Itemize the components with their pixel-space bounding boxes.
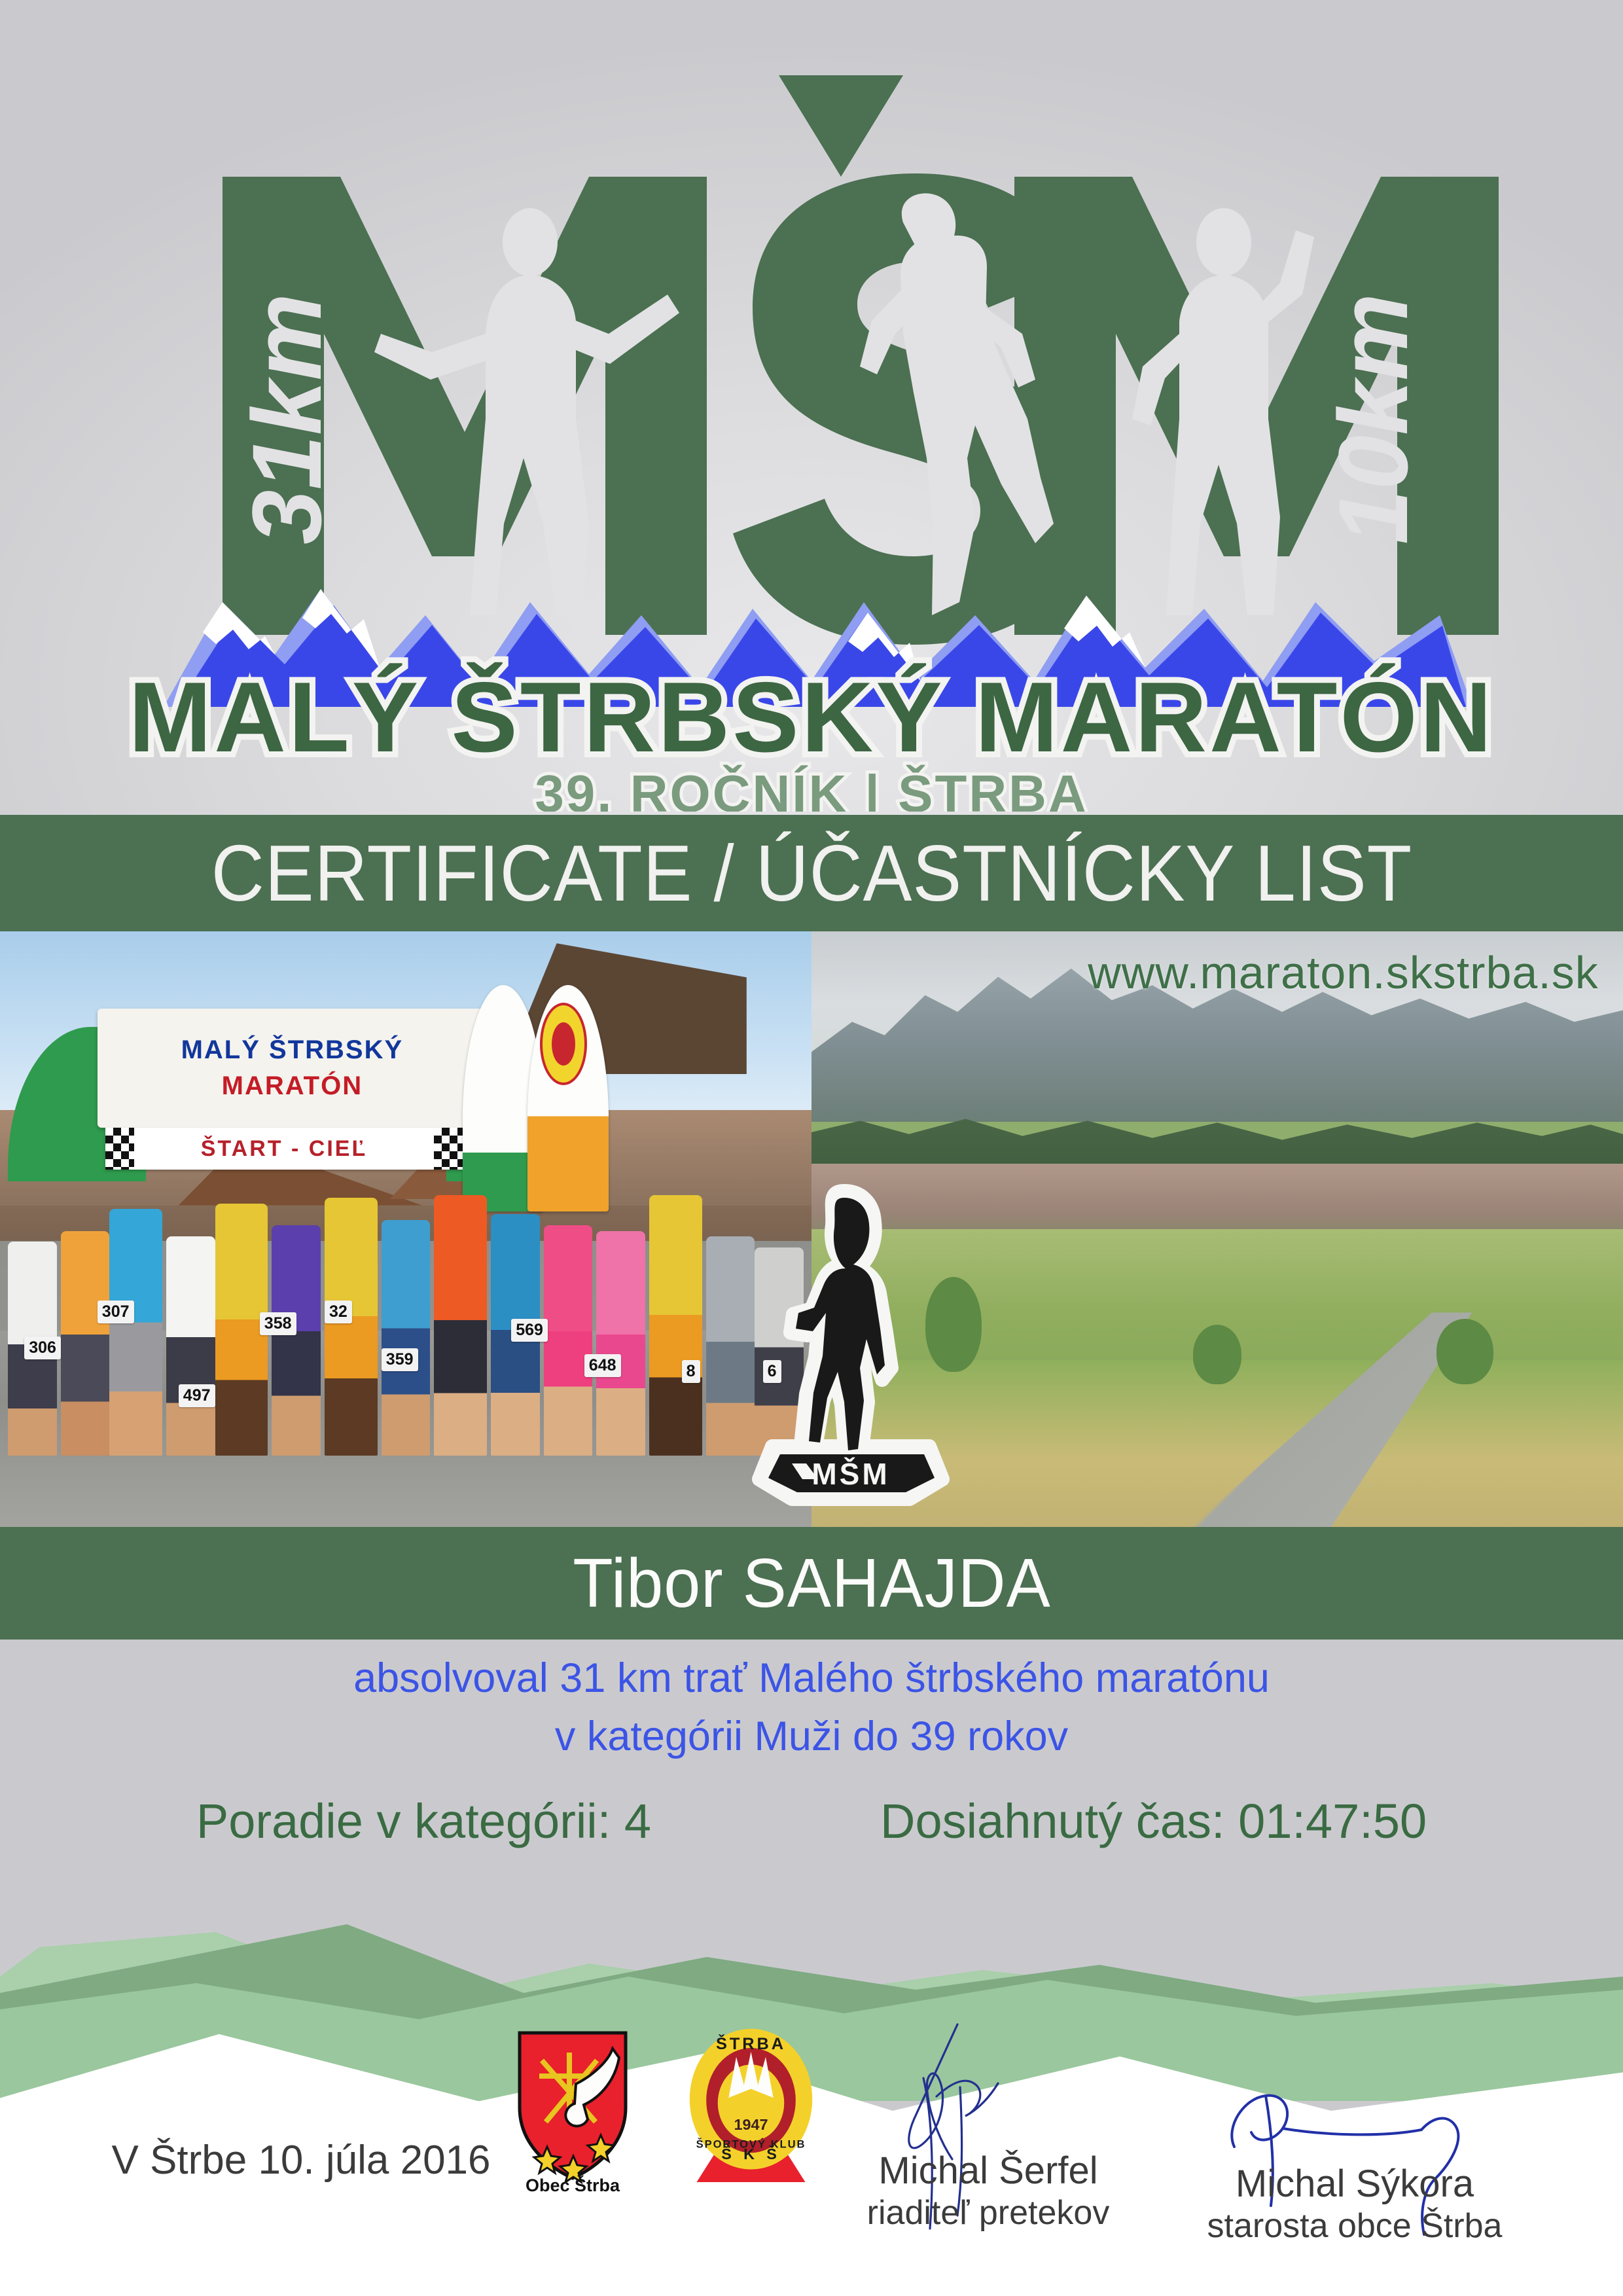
bib-number: 8 (682, 1360, 700, 1383)
runner-name: Tibor SAHAJDA (573, 1544, 1050, 1623)
results-row: Poradie v kategórii: 4 Dosiahnutý čas: 0… (0, 1793, 1623, 1849)
checker-left (105, 1128, 134, 1170)
caron-accent (779, 75, 903, 177)
svg-text:10km: 10km (1318, 293, 1428, 545)
checker-right (434, 1128, 463, 1170)
bib-number: 359 (382, 1348, 418, 1371)
tree (1436, 1319, 1493, 1384)
signature-role-1: riaditeľ pretekov (851, 2192, 1126, 2234)
signature-role-2: starosta obce Štrba (1198, 2205, 1512, 2248)
signature-name-1: Michal Šerfel (851, 2150, 1126, 2192)
bib-number: 497 (179, 1384, 215, 1407)
arch-banner-line1: MALÝ ŠTRBSKÝ (181, 1035, 404, 1065)
sks-club-badge: ŠTRBA 1947 Š K Š ŠPORTOVÝ KLUB (684, 2022, 818, 2189)
runner (544, 1225, 592, 1456)
signature-name-2: Michal Sýkora (1198, 2163, 1512, 2205)
msm-runner-watermark: MŠM (746, 1172, 955, 1512)
achieved-time: Dosiahnutý čas: 01:47:50 (880, 1793, 1427, 1849)
watermark-label: MŠM (811, 1457, 889, 1491)
category-rank-value: 4 (624, 1794, 651, 1848)
signature-block-2: Michal Sýkora starosta obce Štrba (1198, 2163, 1512, 2248)
right-distance-label: 10km (1318, 293, 1428, 545)
runner (272, 1225, 320, 1456)
achieved-time-value: 01:47:50 (1238, 1794, 1427, 1848)
sks-flag-badge (540, 1003, 587, 1085)
signature-block-1: Michal Šerfel riaditeľ pretekov (851, 2150, 1126, 2234)
tree (1193, 1325, 1241, 1384)
achievement-description: absolvoval 31 km trať Malého štrbského m… (0, 1649, 1623, 1767)
bib-number: 648 (584, 1354, 621, 1377)
footer-content: V Štrbe 10. júla 2016 Obec Štrba (0, 2075, 1623, 2296)
event-logo-block: 31km 10km (0, 0, 1623, 815)
runner (325, 1198, 378, 1455)
certificate-title-band: CERTIFICATE / ÚČASTNÍCKY LIST (0, 815, 1623, 931)
arch-banner: MALÝ ŠTRBSKÝ MARATÓN (98, 1009, 487, 1128)
description-line-1: absolvoval 31 km trať Malého štrbského m… (0, 1649, 1623, 1708)
sks-arc-text: ŠPORTOVÝ KLUB (696, 2138, 806, 2150)
start-finish-banner: ŠTART - CIEĽ (105, 1128, 463, 1170)
sks-top-text: ŠTRBA (716, 2034, 786, 2053)
runner (596, 1231, 645, 1456)
runner (61, 1231, 109, 1456)
website-url[interactable]: www.maraton.skstrba.sk (1088, 946, 1599, 999)
bib-number: 306 (24, 1336, 61, 1359)
runner (166, 1236, 215, 1456)
runner-name-band: Tibor SAHAJDA (0, 1527, 1623, 1640)
runner (109, 1209, 162, 1456)
event-name: MALÝ ŠTRBSKÝ MARATÓN (129, 662, 1495, 773)
bib-number: 32 (325, 1300, 352, 1323)
obec-strba-coat-of-arms: Obec Štrba (510, 2029, 635, 2193)
runner (382, 1220, 430, 1456)
obec-logo-caption: Obec Štrba (526, 2175, 620, 2193)
start-finish-text: ŠTART - CIEĽ (201, 1136, 367, 1162)
category-rank-label: Poradie v kategórii: (196, 1794, 611, 1848)
place-and-date: V Štrbe 10. júla 2016 (79, 2137, 524, 2183)
category-rank: Poradie v kategórii: 4 (196, 1793, 651, 1849)
bib-number: 307 (98, 1300, 134, 1323)
sks-year: 1947 (734, 2116, 768, 2133)
arch-banner-line2: MARATÓN (222, 1071, 363, 1101)
certificate-page: 31km 10km (0, 0, 1623, 2296)
bib-number: 569 (511, 1319, 548, 1342)
certificate-title: CERTIFICATE / ÚČASTNÍCKY LIST (211, 827, 1412, 919)
bib-number: 358 (260, 1312, 296, 1335)
left-distance-label: 31km (232, 293, 342, 545)
start-line-photo: MALÝ ŠTRBSKÝ MARATÓN ŠTART - CIEĽ (0, 931, 811, 1527)
description-line-2: v kategórii Muži do 39 rokov (0, 1708, 1623, 1766)
achieved-time-label: Dosiahnutý čas: (880, 1794, 1225, 1848)
msm-logo: 31km 10km (124, 26, 1499, 812)
svg-text:31km: 31km (232, 293, 342, 545)
edition-line: 39. ROČNÍK | ŠTRBA (535, 764, 1088, 812)
runner (434, 1195, 487, 1456)
runner (649, 1195, 702, 1456)
